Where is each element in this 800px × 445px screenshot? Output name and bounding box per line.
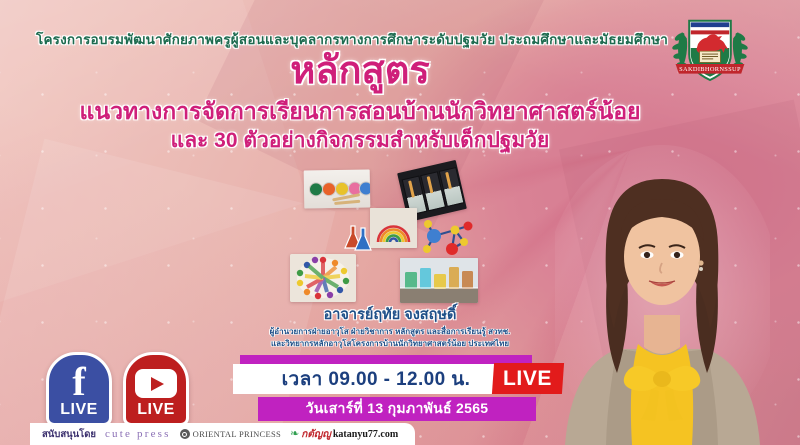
katanyu-thai-label: กตัญญู — [301, 427, 331, 442]
event-date: วันเสาร์ที่ 13 กุมภาพันธ์ 2565 — [306, 398, 489, 420]
oriental-princess-logo-icon — [180, 429, 190, 439]
rainbow-drawing-photo — [370, 208, 417, 248]
event-poster: โครงการอบรมพัฒนาศักยภาพครูผู้สอนและบุคลา… — [0, 0, 800, 445]
leaf-icon: ❧ — [290, 429, 299, 440]
course-subtitle-line-1: แนวทางการจัดการเรียนการสอนบ้านนักวิทยาศา… — [60, 98, 660, 124]
youtube-play-icon — [135, 369, 177, 398]
title-block: หลักสูตร แนวทางการจัดการเรียนการสอนบ้านน… — [60, 52, 660, 153]
speaker-credential-line-2: และวิทยากรหลักอาวุโสโครงการบ้านนักวิทยาศ… — [190, 338, 590, 350]
youtube-live-badge[interactable]: LIVE — [123, 352, 189, 426]
program-strapline: โครงการอบรมพัฒนาศักยภาพครูผู้สอนและบุคลา… — [36, 28, 636, 50]
katanyu-url-label: katanyu77.com — [333, 429, 398, 440]
sponsor-cute-press: cute press — [105, 428, 171, 440]
speaker-info: อาจารย์ฤทัย จงสฤษดิ์ ผู้อำนวยการฝ่ายอาวุ… — [190, 303, 590, 349]
supported-by-label: สนับสนุนโดย — [42, 427, 96, 442]
youtube-live-label: LIVE — [137, 402, 175, 418]
live-chip: LIVE — [492, 363, 564, 394]
speaker-name: อาจารย์ฤทัย จงสฤษดิ์ — [190, 303, 590, 326]
facebook-live-label: LIVE — [60, 402, 98, 418]
event-time: เวลา 09.00 - 12.00 น. — [282, 364, 471, 394]
sponsor-katanyu: ❧ กตัญญู katanyu77.com — [290, 427, 398, 442]
sakdibhornssup-crest-logo: SAKDIBHORNSSUP — [666, 8, 754, 88]
sponsor-strip: สนับสนุนโดย cute press ORIENTAL PRINCESS… — [30, 423, 415, 445]
page-title: หลักสูตร — [60, 52, 660, 92]
event-time-bar: เวลา 09.00 - 12.00 น. — [233, 364, 519, 394]
facebook-live-badge[interactable]: f LIVE — [46, 352, 112, 426]
laboratory-beakers-photo — [400, 258, 478, 303]
speaker-credential-line-1: ผู้อำนวยการฝ่ายอาวุโส ฝ่ายวิชาการ หลักสู… — [190, 326, 590, 338]
crest-banner-text: SAKDIBHORNSSUP — [679, 66, 741, 73]
science-activity-collage — [290, 168, 550, 303]
paint-jars-photo — [304, 169, 371, 208]
flask-illustration — [342, 224, 372, 252]
sponsor-oriental-princess: ORIENTAL PRINCESS — [180, 429, 281, 439]
live-chip-label: LIVE — [503, 367, 552, 391]
oriental-princess-label: ORIENTAL PRINCESS — [193, 429, 281, 439]
skittles-color-wheel-photo — [290, 254, 356, 302]
speaker-photo — [555, 145, 770, 445]
facebook-icon: f — [49, 362, 109, 402]
accent-bar — [240, 355, 532, 364]
event-date-bar: วันเสาร์ที่ 13 กุมภาพันธ์ 2565 — [258, 397, 536, 421]
molecule-diagram — [418, 216, 480, 258]
